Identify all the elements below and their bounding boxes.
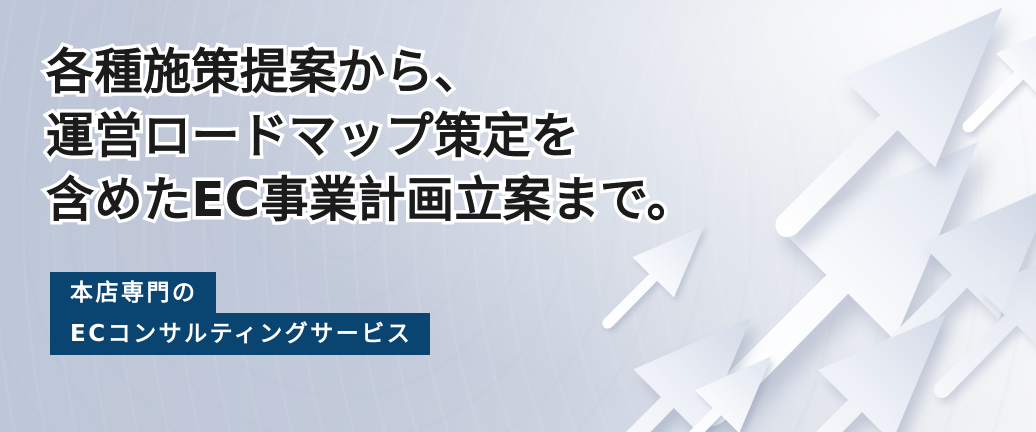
service-label-block: 本店専門の ECコンサルティングサービス — [50, 272, 570, 355]
service-label-row-2: ECコンサルティングサービス — [50, 313, 570, 355]
hero-banner: 各種施策提案から、 運営ロードマップ策定を 含めたEC事業計画立案まで。 各種施… — [0, 0, 1036, 432]
service-label-line-2: ECコンサルティングサービス — [50, 313, 430, 355]
arrow-small-left — [602, 226, 704, 329]
headline-line-2: 運営ロードマップ策定を — [46, 104, 695, 168]
headline: 各種施策提案から、 運営ロードマップ策定を 含めたEC事業計画立案まで。 — [46, 40, 695, 232]
service-label-line-1: 本店専門の — [50, 272, 216, 314]
service-label-row-1: 本店専門の — [50, 272, 570, 314]
headline-line-3: 含めたEC事業計画立案まで。 — [46, 168, 695, 232]
headline-line-1: 各種施策提案から、 — [46, 40, 695, 104]
